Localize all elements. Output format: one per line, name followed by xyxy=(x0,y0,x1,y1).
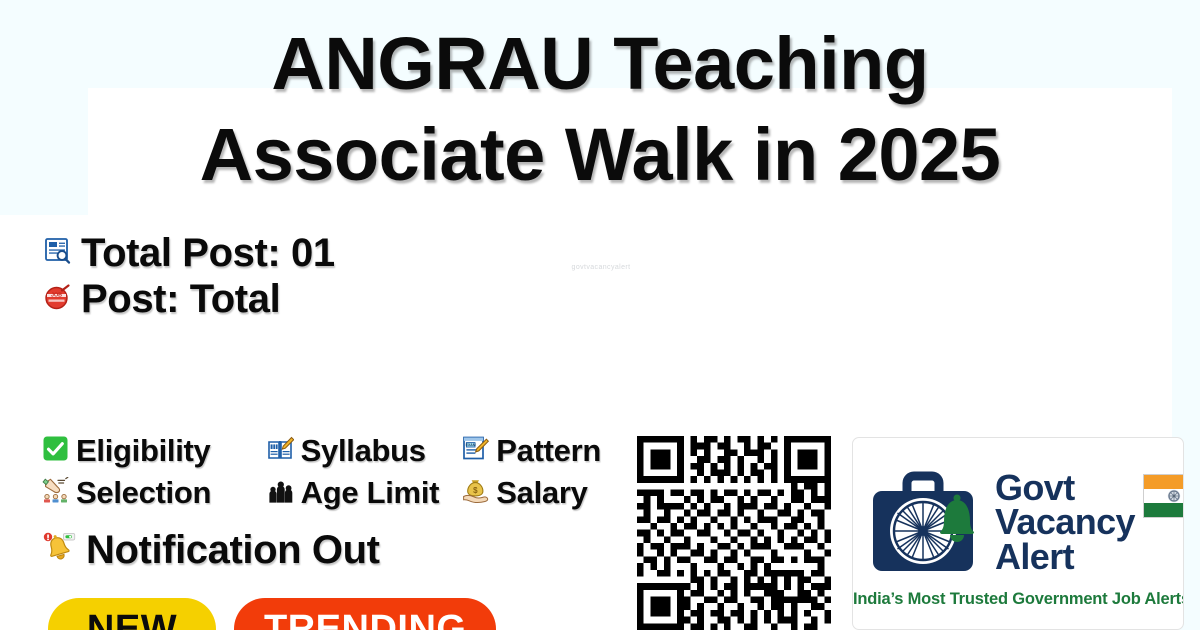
title-line-1: ANGRAU Teaching xyxy=(0,18,1200,109)
notification-status: Notification Out xyxy=(42,528,380,573)
feature-eligibility: Eligibility xyxy=(42,433,267,469)
red-stamp-icon: JOB xyxy=(42,282,72,317)
feature-salary: $ Salary xyxy=(462,475,642,511)
qr-code[interactable] xyxy=(637,436,831,630)
money-bag-hand-icon: $ xyxy=(462,477,489,509)
svg-text:$: $ xyxy=(473,486,478,495)
brand-logo-card: Govt Vacancy Alert I xyxy=(852,437,1184,630)
feature-pattern: EXAM Pattern xyxy=(462,433,642,469)
brand-logo-row: Govt Vacancy Alert xyxy=(867,460,1173,585)
post-info-row-total-post: Total Post: 01 xyxy=(42,230,335,276)
family-people-icon xyxy=(267,477,294,509)
svg-text:JOB: JOB xyxy=(51,292,62,298)
title-line-2: Associate Walk in 2025 xyxy=(0,109,1200,200)
feature-age-limit: Age Limit xyxy=(267,475,463,511)
brand-tagline: India’s Most Trusted Government Job Aler… xyxy=(853,590,1184,609)
brand-word-1: Govt xyxy=(995,471,1135,506)
feature-label: Age Limit xyxy=(301,475,440,511)
exam-paper-pencil-icon: EXAM xyxy=(462,435,489,467)
feature-label: Pattern xyxy=(496,433,601,469)
briefcase-chakra-bell-logo-icon xyxy=(867,461,989,584)
feature-syllabus: Syllabus xyxy=(267,433,463,469)
hand-selection-icon xyxy=(42,477,69,509)
post-info-text: Post: Total xyxy=(81,277,280,322)
brand-word-3: Alert xyxy=(995,540,1135,575)
job-document-search-icon xyxy=(42,236,72,271)
feature-label: Selection xyxy=(76,475,211,511)
poster-canvas: ANGRAU Teaching Associate Walk in 2025 g… xyxy=(0,0,1200,630)
svg-text:EXAM: EXAM xyxy=(466,443,476,447)
features-grid: Eligibility xyxy=(42,430,642,514)
watermark-text: govtvacancyalert xyxy=(565,264,637,271)
feature-label: Eligibility xyxy=(76,433,211,469)
notification-label: Notification Out xyxy=(86,528,380,573)
brand-wordmark: Govt Vacancy Alert xyxy=(995,471,1135,575)
brand-word-2: Vacancy xyxy=(995,505,1135,540)
features-row-2: Selection Age Limit xyxy=(42,472,642,514)
green-check-icon xyxy=(42,435,69,467)
post-info-text: Total Post: 01 xyxy=(81,231,335,276)
features-row-1: Eligibility xyxy=(42,430,642,472)
feature-label: Syllabus xyxy=(301,433,426,469)
feature-selection: Selection xyxy=(42,475,267,511)
badge-row: NEW TRENDING xyxy=(48,598,496,630)
bell-notification-icon xyxy=(42,531,76,570)
page-title: ANGRAU Teaching Associate Walk in 2025 xyxy=(0,18,1200,200)
feature-label: Salary xyxy=(496,475,587,511)
india-flag-icon xyxy=(1143,474,1184,523)
post-info-row-post-total: JOB Post: Total xyxy=(42,276,335,322)
post-info-block: Total Post: 01 JOB Post: Total xyxy=(42,230,335,322)
new-badge[interactable]: NEW xyxy=(48,598,216,630)
open-book-pencil-icon xyxy=(267,435,294,467)
trending-badge[interactable]: TRENDING xyxy=(234,598,496,630)
